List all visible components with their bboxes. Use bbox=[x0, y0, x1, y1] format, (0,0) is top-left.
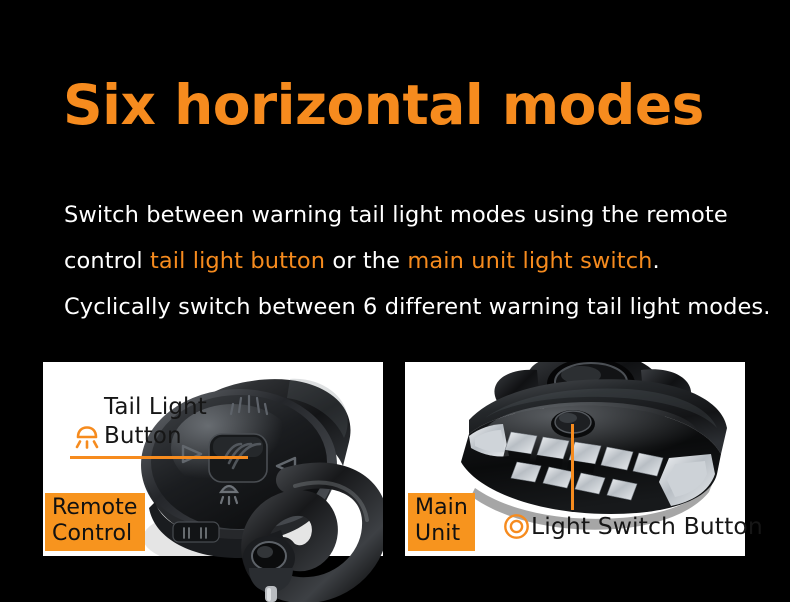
description-line-2-prefix: control bbox=[64, 248, 150, 274]
description-line-2: control tail light button or the main un… bbox=[64, 238, 764, 284]
tail-light-callout-line-1: Tail Light bbox=[104, 392, 207, 422]
light-switch-leader-line bbox=[571, 424, 574, 510]
tail-light-leader-line bbox=[70, 456, 248, 459]
highlight-tail-light-button: tail light button bbox=[150, 248, 325, 274]
main-unit-badge: Main Unit bbox=[408, 493, 475, 551]
page-title: Six horizontal modes bbox=[63, 74, 704, 136]
light-switch-button-label: Light Switch Button bbox=[531, 511, 763, 541]
remote-control-badge: Remote Control bbox=[45, 493, 145, 551]
description-line-2-suffix: . bbox=[653, 248, 660, 274]
product-feature-slide: Six horizontal modes Switch between warn… bbox=[0, 0, 790, 601]
remote-control-badge-line-2: Control bbox=[52, 521, 138, 547]
description-line-2-middle: or the bbox=[325, 248, 407, 274]
remote-control-product-image bbox=[43, 362, 383, 602]
description-line-1-text: Switch between warning tail light modes … bbox=[64, 202, 728, 228]
lamp-light-icon bbox=[72, 422, 102, 452]
tail-light-callout-line-2: Button bbox=[104, 421, 182, 451]
remote-control-badge-line-1: Remote bbox=[52, 495, 138, 521]
main-unit-badge-line-2: Unit bbox=[415, 521, 468, 547]
description-text: Switch between warning tail light modes … bbox=[64, 192, 764, 330]
main-unit-badge-line-1: Main bbox=[415, 495, 468, 521]
description-line-3: Cyclically switch between 6 different wa… bbox=[64, 284, 764, 330]
description-line-1: Switch between warning tail light modes … bbox=[64, 192, 764, 238]
description-line-3-text: Cyclically switch between 6 different wa… bbox=[64, 294, 771, 320]
highlight-main-unit-light-switch: main unit light switch bbox=[407, 248, 652, 274]
concentric-ring-icon bbox=[503, 513, 530, 540]
